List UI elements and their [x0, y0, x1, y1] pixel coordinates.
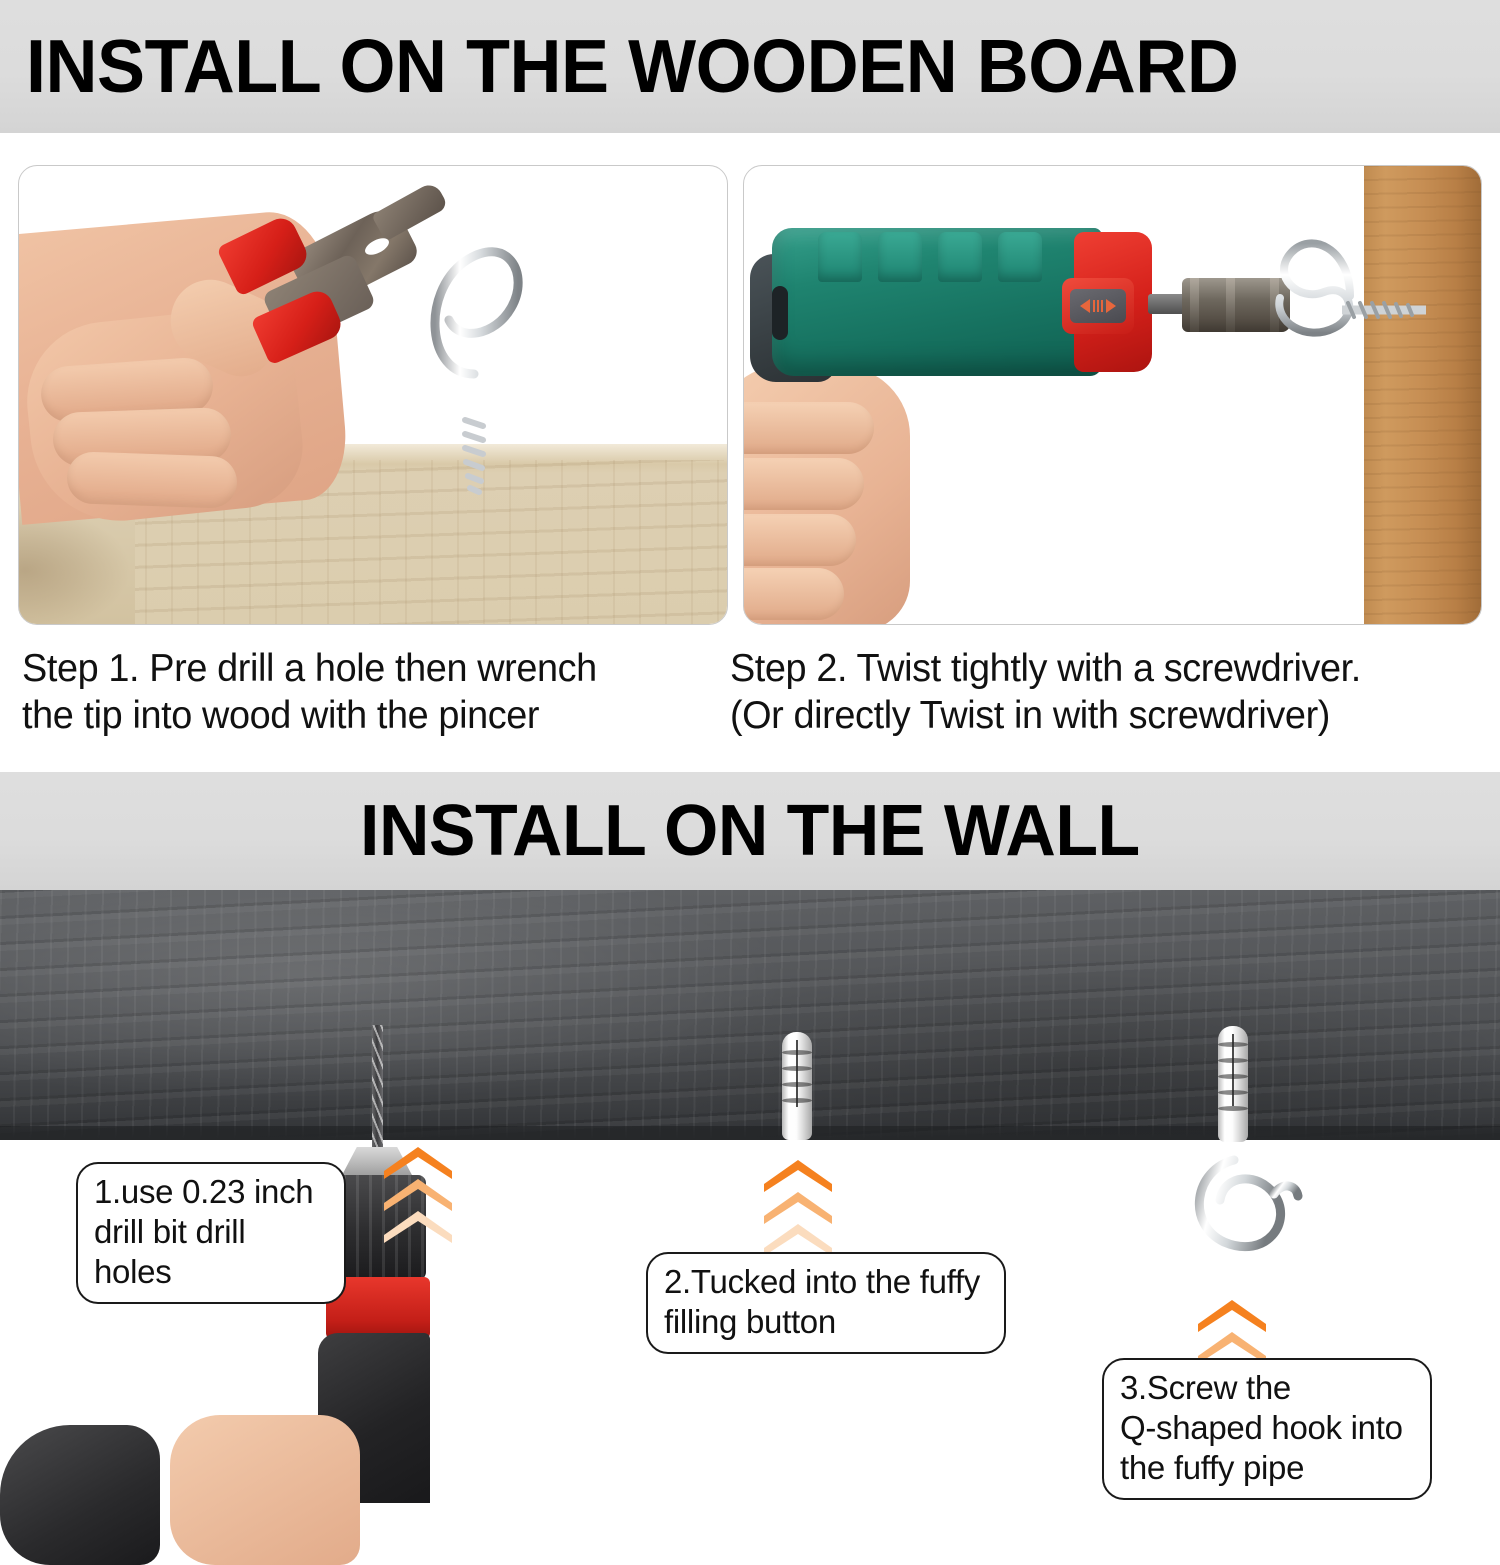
finger: [743, 514, 856, 566]
finger: [743, 458, 864, 510]
step-1-photo: [18, 165, 728, 625]
chevron-group-2: [762, 1158, 834, 1262]
drill-rib: [818, 232, 862, 282]
finger: [66, 451, 238, 509]
wall-header-band: INSTALL ON THE WALL: [0, 772, 1500, 890]
callout-step-1: 1.use 0.23 inch drill bit drill holes: [76, 1162, 346, 1304]
hand-gripping-drill: [170, 1415, 360, 1565]
wall-title: INSTALL ON THE WALL: [360, 795, 1140, 867]
drill-rib: [878, 232, 922, 282]
arrow-left-icon: [1080, 299, 1090, 313]
callout-step-3: 3.Screw the Q-shaped hook into the fuffy…: [1102, 1358, 1432, 1500]
wooden-board-header-band: INSTALL ON THE WOODEN BOARD: [0, 0, 1500, 133]
wooden-board-title: INSTALL ON THE WOODEN BOARD: [26, 29, 1238, 104]
drill-shaft: [1148, 294, 1186, 314]
wall-install-stage: 1.use 0.23 inch drill bit drill holes 2.…: [0, 890, 1500, 1500]
arrow-right-icon: [1106, 299, 1116, 313]
drill-rib: [998, 232, 1042, 282]
drill-bit-icon: [372, 1025, 383, 1155]
screw-thread-icon: [1342, 299, 1426, 321]
switch-face: [1070, 289, 1126, 323]
q-shaped-hook-icon: [1254, 224, 1384, 364]
step-2-photo: [743, 165, 1482, 625]
chevron-up-icon: [762, 1158, 834, 1192]
wood-knot: [315, 514, 355, 523]
infographic-page: INSTALL ON THE WOODEN BOARD: [0, 0, 1500, 1500]
step-2-caption: Step 2. Twist tightly with a screwdriver…: [728, 645, 1446, 757]
q-shaped-hook-icon: [419, 224, 529, 514]
callout-step-2: 2.Tucked into the fuffy filling button: [646, 1252, 1006, 1354]
chevron-up-icon: [382, 1145, 454, 1179]
chevron-up-icon: [762, 1222, 834, 1256]
chevron-up-icon: [382, 1177, 454, 1211]
step-photo-panels: [18, 165, 1482, 625]
switch-bars: [1093, 300, 1103, 312]
q-shaped-hook-icon: [1178, 1010, 1328, 1260]
chevron-group-1: [382, 1145, 454, 1249]
chevron-up-icon: [1196, 1298, 1268, 1332]
step-captions: Step 1. Pre drill a hole then wrench the…: [22, 645, 1482, 757]
finger: [743, 402, 874, 454]
chevron-up-icon: [762, 1190, 834, 1224]
finger: [743, 568, 844, 620]
drill-rib: [938, 232, 982, 282]
drill-vent: [772, 286, 788, 340]
wall-anchor-icon: [782, 1032, 812, 1140]
wood-knot: [85, 564, 109, 578]
drill-battery-pack: [0, 1425, 160, 1565]
step-1-caption: Step 1. Pre drill a hole then wrench the…: [22, 645, 707, 757]
drill-direction-switch[interactable]: [1062, 278, 1134, 334]
chevron-up-icon: [382, 1209, 454, 1243]
